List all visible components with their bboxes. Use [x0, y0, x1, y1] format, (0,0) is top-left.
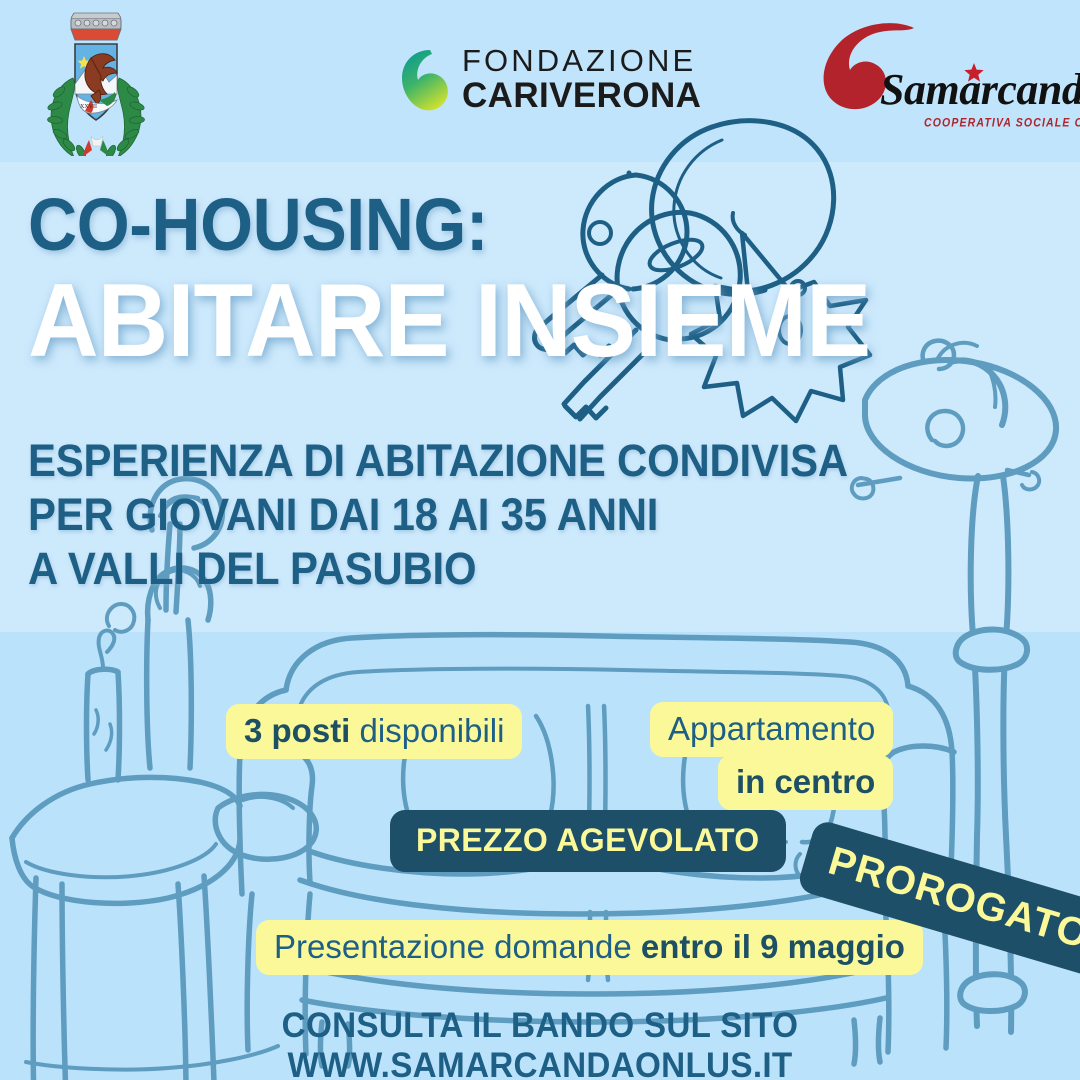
- subtitle-line2: PER GIOVANI DAI 18 AI 35 ANNI: [28, 488, 865, 542]
- badge-appartamento: Appartamento in centro: [650, 702, 893, 810]
- cariverona-line2: CARIVERONA: [462, 78, 701, 114]
- svg-text:XXVII: XXVII: [80, 104, 97, 110]
- badge-prezzo-agevolato: PREZZO AGEVOLATO: [390, 810, 786, 872]
- cariverona-mark-icon: [400, 48, 456, 112]
- badge-posti-rest: disponibili: [350, 712, 504, 749]
- footer-website-line: CONSULTA IL BANDO SUL SITO WWW.SAMARCAND…: [27, 1006, 1053, 1080]
- municipal-crest-icon: XXVII: [47, 8, 145, 156]
- subtitle-line1: ESPERIENZA DI ABITAZIONE CONDIVISA: [28, 434, 865, 488]
- badge-posti-disponibili: 3 posti disponibili: [226, 704, 522, 759]
- cariverona-line1: FONDAZIONE: [462, 44, 701, 78]
- samarcanda-logo: Samarcanda COOPERATIVA SOCIALE ONLUS: [818, 22, 1058, 132]
- badge-prezzo-label: PREZZO AGEVOLATO: [416, 822, 760, 858]
- subtitle-block: ESPERIENZA DI ABITAZIONE CONDIVISA PER G…: [28, 434, 865, 596]
- subtitle-line3: A VALLI DEL PASUBIO: [28, 542, 865, 596]
- headline-line2: ABITARE INSIEME: [28, 268, 874, 374]
- badge-scadenza-domande: Presentazione domande entro il 9 maggio: [256, 920, 923, 975]
- badge-appartamento-line2: in centro: [736, 763, 875, 800]
- badge-posti-count: 3 posti: [244, 712, 350, 749]
- badge-scadenza-date: entro il 9 maggio: [641, 928, 905, 965]
- cariverona-logo: FONDAZIONE CARIVERONA: [400, 44, 690, 116]
- badge-appartamento-line1: Appartamento: [650, 702, 893, 757]
- headline-line1: CO-HOUSING:: [28, 186, 856, 264]
- poster-canvas: XXVII: [0, 0, 1080, 1080]
- headline-block: CO-HOUSING: ABITARE INSIEME: [28, 186, 928, 374]
- samarcanda-tagline: COOPERATIVA SOCIALE ONLUS: [924, 116, 1080, 130]
- star-icon: [963, 62, 985, 84]
- logo-row: XXVII: [0, 0, 1080, 162]
- badge-scadenza-rest: Presentazione domande: [274, 928, 641, 965]
